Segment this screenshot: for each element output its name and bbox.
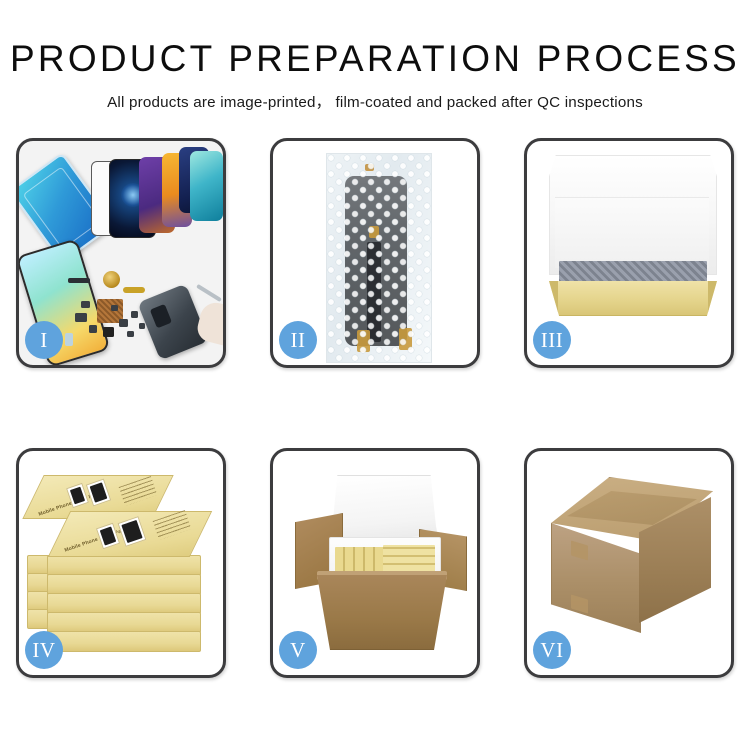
bubble-texture	[327, 154, 431, 362]
small-component-4	[103, 327, 114, 337]
page-title: PRODUCT PREPARATION PROCESS	[0, 40, 750, 77]
stacked-box-f5	[47, 631, 201, 652]
tweezers-tool	[196, 284, 222, 302]
product-preparation-infographic: PRODUCT PREPARATION PROCESS All products…	[0, 0, 750, 750]
process-step-5: V	[270, 448, 480, 678]
page-subtitle: All products are image-printed， film-coa…	[0, 90, 750, 112]
kraft-box-base	[549, 281, 717, 316]
box-window-screen	[121, 520, 142, 543]
step-badge-4: IV	[25, 631, 63, 669]
speaker-coil-part	[103, 271, 120, 288]
step-badge-3: III	[533, 321, 571, 359]
process-step-2: II	[270, 138, 480, 368]
bubble-wrap-bag	[326, 153, 432, 363]
process-step-4: Mobile Phone Spare Parts Mobile Phone Sp…	[16, 448, 226, 678]
stacked-box-f2	[47, 574, 201, 595]
small-component-10	[111, 305, 118, 311]
stacked-box-f3	[47, 593, 201, 614]
foam-sheet	[555, 197, 709, 268]
sealed-carton-left-face	[551, 523, 641, 633]
small-component-7	[65, 333, 73, 346]
step-badge-6: VI	[533, 631, 571, 669]
flex-cable-part	[123, 287, 145, 293]
small-component-3	[89, 325, 97, 333]
small-component-1	[81, 301, 90, 308]
process-step-1: I	[16, 138, 226, 368]
stacked-box-f4	[47, 612, 201, 633]
box-window-screen	[100, 526, 117, 545]
header: PRODUCT PREPARATION PROCESS All products…	[0, 0, 750, 112]
carton-body	[317, 575, 447, 650]
small-component-8	[127, 331, 134, 337]
stacked-box-f1	[47, 555, 201, 576]
battery-connector-part	[68, 278, 90, 283]
box-window-screen	[70, 487, 85, 505]
process-step-3: III	[524, 138, 734, 368]
step-badge-2: II	[279, 321, 317, 359]
small-component-9	[139, 323, 145, 329]
box-window-screen	[90, 482, 108, 502]
small-component-6	[131, 311, 138, 318]
small-component-2	[75, 313, 87, 322]
small-component-5	[119, 319, 128, 327]
process-step-grid: I II	[16, 138, 734, 678]
process-step-6: VI	[524, 448, 734, 678]
step-badge-5: V	[279, 631, 317, 669]
step-badge-1: I	[25, 321, 63, 359]
phone-display-teal	[190, 151, 223, 221]
